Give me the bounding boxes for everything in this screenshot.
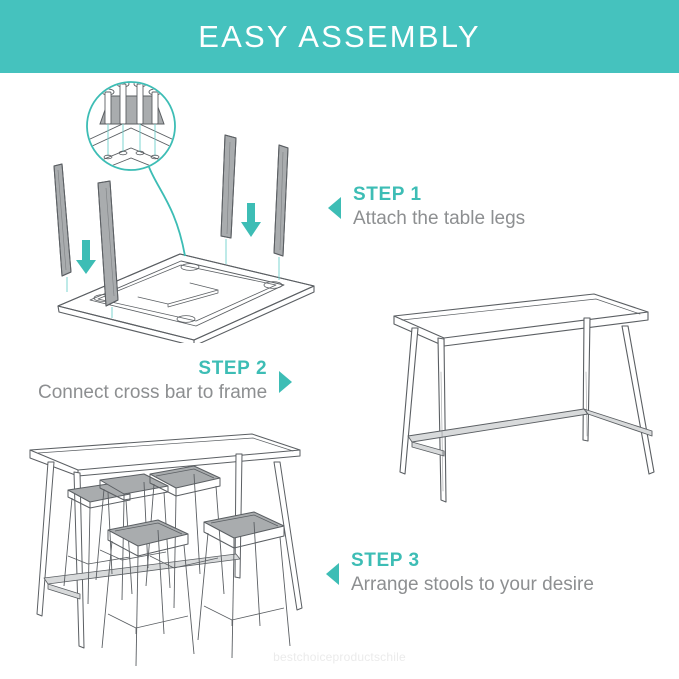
assembled-table-illustration [372,276,668,514]
tabletop-with-legs-illustration [18,78,348,343]
step-1-caption: STEP 1 Attach the table legs [328,184,525,232]
table-with-stools-illustration [12,418,324,666]
step-2-subtitle: Connect cross bar to frame [38,380,267,406]
step-1-title: STEP 1 [353,184,422,206]
step-3-caption: STEP 3 Arrange stools to your desire [326,550,594,598]
step-3-subtitle: Arrange stools to your desire [351,572,594,598]
step-2-title: STEP 2 [198,358,267,380]
header-banner: EASY ASSEMBLY [0,0,679,73]
triangle-left-icon [328,197,341,219]
triangle-right-icon [279,371,292,393]
step-1-subtitle: Attach the table legs [353,206,525,232]
triangle-left-icon [326,563,339,585]
page-title: EASY ASSEMBLY [198,19,480,55]
step-3-title: STEP 3 [351,550,420,572]
watermark: bestchoiceproductschile [0,650,679,664]
step-2-caption: STEP 2 Connect cross bar to frame [38,358,292,406]
